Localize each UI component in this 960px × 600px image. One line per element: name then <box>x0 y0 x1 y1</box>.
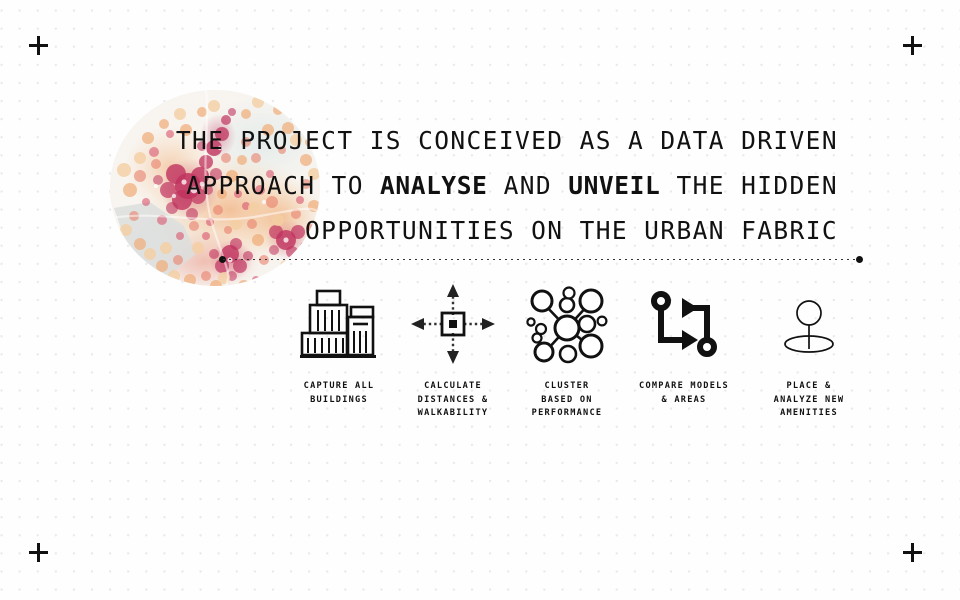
connector-line <box>223 259 859 260</box>
step-compare-models: COMPARE MODELS & AREAS <box>623 284 745 407</box>
step-capture-all-buildings: CAPTURE ALL BUILDINGS <box>283 284 395 407</box>
registration-cross-bottom-right <box>903 543 922 562</box>
step-place-analyze-amenities: PLACE & ANALYZE NEW AMENITIES <box>745 284 873 421</box>
registration-cross-top-right <box>903 36 922 55</box>
headline-line-2-part-a: APPROACH TO <box>186 171 380 200</box>
page-title: THE PROJECT IS CONCEIVED AS A DATA DRIVE… <box>140 118 838 253</box>
slide-canvas: THE PROJECT IS CONCEIVED AS A DATA DRIVE… <box>0 0 960 600</box>
headline-line-1: THE PROJECT IS CONCEIVED AS A DATA DRIVE… <box>140 118 838 163</box>
step-label: CALCULATE DISTANCES & WALKABILITY <box>418 380 489 421</box>
step-label: COMPARE MODELS & AREAS <box>639 380 729 407</box>
workflow-steps: CAPTURE ALL BUILDINGS <box>283 284 883 434</box>
buildings-icon <box>298 284 380 364</box>
step-label: PLACE & ANALYZE NEW AMENITIES <box>774 380 845 421</box>
registration-cross-bottom-left <box>29 543 48 562</box>
headline-emphasis-analyse: ANALYSE <box>380 171 487 200</box>
headline-line-3: OPPORTUNITIES ON THE URBAN FABRIC <box>140 208 838 253</box>
map-pin-icon <box>777 284 841 364</box>
connector-dot-right <box>856 256 863 263</box>
headline-emphasis-unveil: UNVEIL <box>568 171 660 200</box>
registration-cross-top-left <box>29 36 48 55</box>
connector-dotted-line <box>219 259 863 261</box>
network-cluster-icon <box>525 284 609 364</box>
step-label: CAPTURE ALL BUILDINGS <box>304 380 375 407</box>
headline-line-2: APPROACH TO ANALYSE AND UNVEIL THE HIDDE… <box>140 163 838 208</box>
headline-line-2-part-b: AND <box>487 171 568 200</box>
step-cluster-performance: CLUSTER BASED ON PERFORMANCE <box>511 284 623 421</box>
headline-line-2-part-c: THE HIDDEN <box>660 171 838 200</box>
step-label: CLUSTER BASED ON PERFORMANCE <box>532 380 603 421</box>
step-calculate-distances: CALCULATE DISTANCES & WALKABILITY <box>395 284 511 421</box>
swap-arrows-icon <box>646 284 722 364</box>
four-way-arrows-icon <box>410 284 496 364</box>
